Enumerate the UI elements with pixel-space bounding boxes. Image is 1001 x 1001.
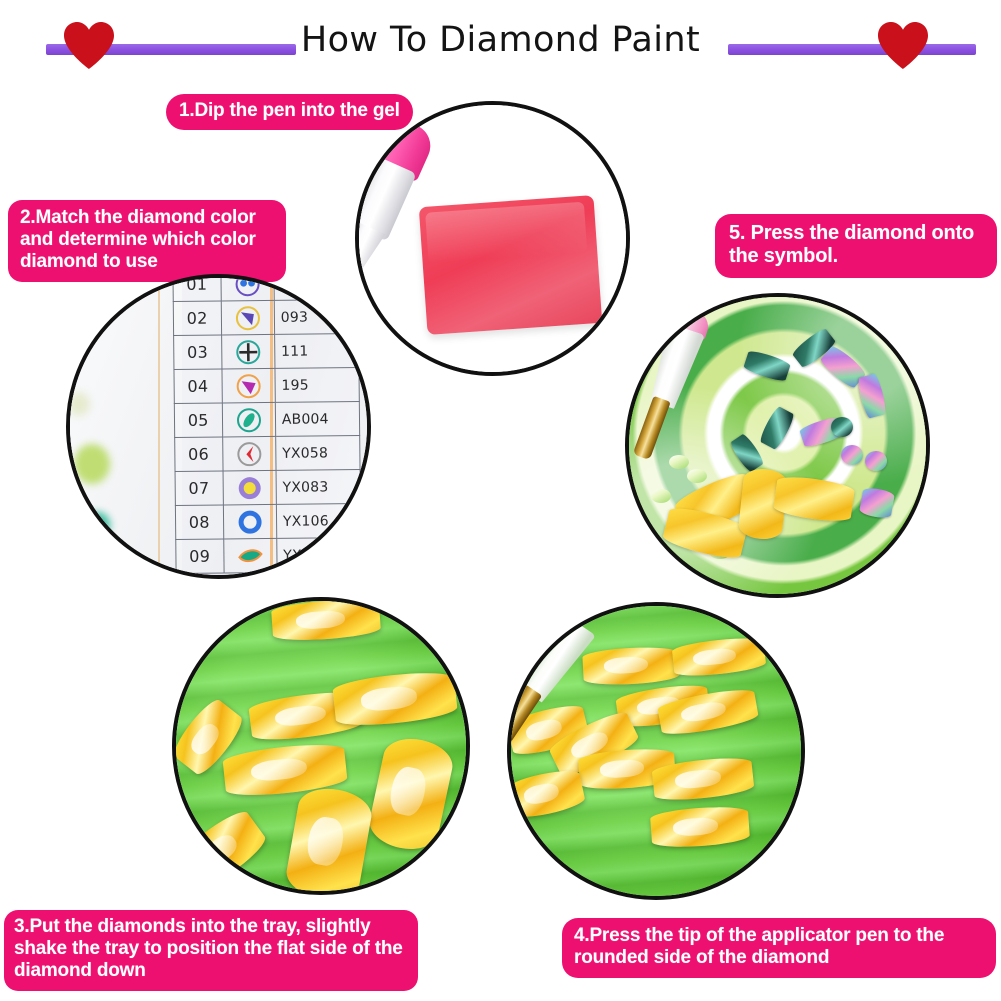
table-row: 04 195: [174, 368, 359, 404]
chart-code: 05: [174, 403, 222, 437]
table-row: 06 YX058: [175, 436, 360, 472]
canvas-edge: [66, 274, 182, 579]
table-row: 09 YX125: [176, 538, 361, 574]
table-row: 01 028: [173, 274, 358, 301]
chart-ref: 028: [274, 274, 359, 300]
triangle-icon: [221, 300, 275, 335]
chart-code: 03: [174, 335, 222, 369]
ellipse-icon: [222, 402, 276, 437]
chart-ref: YX106: [276, 504, 361, 539]
step-2-label: 2.Match the diamond color and determine …: [8, 200, 286, 282]
chart-guide-line: [158, 274, 160, 579]
chart-ref: 111: [274, 334, 359, 369]
gel-pad: [419, 195, 603, 335]
chart-code: 06: [175, 437, 223, 471]
chart-code: 02: [173, 301, 221, 335]
step-2-photo: 01 028 02 093 03 111 04: [66, 274, 371, 579]
chart-code: 07: [175, 471, 223, 505]
dot-in-ring-icon: [223, 470, 277, 505]
triangle-down-icon: [221, 368, 275, 403]
ring-icon: [223, 504, 277, 539]
leaf-icon: [223, 538, 277, 573]
step-3-photo: [172, 597, 470, 895]
step-1-photo: [355, 101, 630, 376]
chart-ref: AB004: [275, 402, 360, 437]
chart-code: 01: [173, 274, 221, 301]
chart-code: 08: [175, 505, 223, 539]
chart-ref: YX058: [276, 436, 361, 471]
step-4-photo: [507, 602, 805, 900]
page-title: How To Diamond Paint: [0, 20, 1001, 60]
plus-icon: [221, 334, 275, 369]
double-dot-icon: [220, 274, 274, 301]
step-4-label: 4.Press the tip of the applicator pen to…: [562, 918, 996, 978]
table-row: 08 YX106: [175, 504, 360, 540]
chart-ref: YX083: [276, 470, 361, 505]
step-3-label: 3.Put the diamonds into the tray, slight…: [4, 910, 418, 991]
table-row: 05 AB004: [174, 402, 359, 438]
table-row: 02 093: [173, 300, 358, 336]
color-chart-table: 01 028 02 093 03 111 04: [172, 274, 361, 574]
step-5-photo: [625, 293, 930, 598]
chart-code: 09: [176, 539, 224, 573]
chart-ref: 093: [274, 300, 359, 335]
chevron-left-icon: [222, 436, 276, 471]
chart-ref: YX125: [277, 538, 362, 573]
table-row: 03 111: [174, 334, 359, 370]
chart-code: 04: [174, 369, 222, 403]
page-header: How To Diamond Paint: [0, 0, 1001, 86]
chart-ref: 195: [275, 368, 360, 403]
table-row: 07 YX083: [175, 470, 360, 506]
step-5-label: 5. Press the diamond onto the symbol.: [715, 214, 997, 278]
